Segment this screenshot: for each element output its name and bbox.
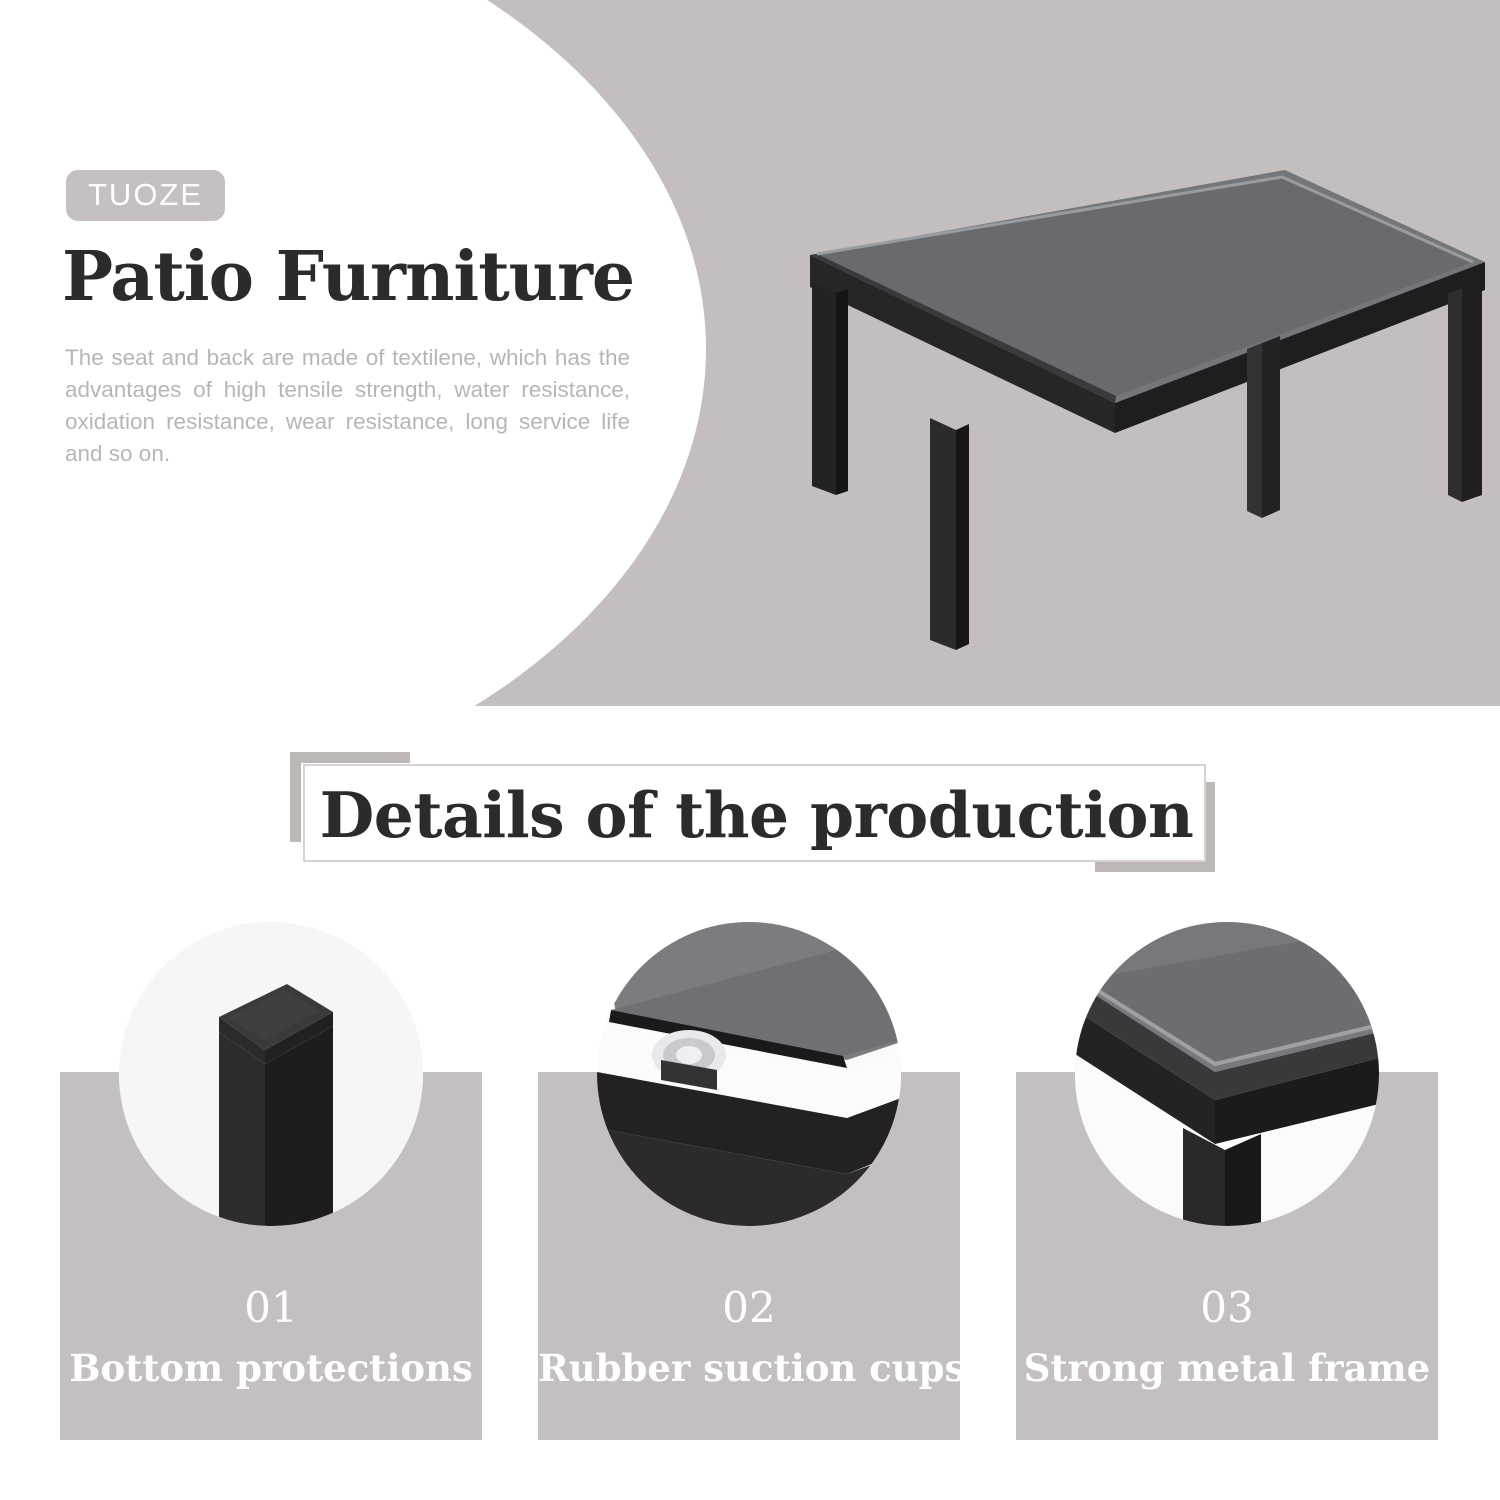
product-table-image: [770, 150, 1500, 660]
section-heading: Details of the production: [290, 752, 1215, 872]
detail-number-03: 03: [1016, 1287, 1438, 1329]
detail-number-02: 02: [538, 1287, 960, 1329]
product-marketing-page: TUOZE Patio Furniture The seat and back …: [0, 0, 1500, 1500]
hero-description: The seat and back are made of textilene,…: [65, 342, 630, 470]
detail-panel-03: 03 Strong metal frame: [1016, 1072, 1438, 1440]
detail-panel-02: 02 Rubber suction cups: [538, 1072, 960, 1440]
section-heading-text: Details of the production: [305, 766, 1208, 864]
detail-number-01: 01: [60, 1287, 482, 1329]
page-title: Patio Furniture: [62, 243, 634, 311]
detail-image-01: [119, 922, 423, 1226]
brand-badge: TUOZE: [66, 170, 225, 221]
detail-label-03: Strong metal frame: [1016, 1350, 1438, 1387]
detail-panel-01: 01 Bottom protections: [60, 1072, 482, 1440]
detail-label-02: Rubber suction cups: [538, 1350, 960, 1387]
heading-frame-box: Details of the production: [303, 764, 1206, 862]
detail-label-01: Bottom protections: [60, 1350, 482, 1387]
detail-image-03: [1075, 922, 1379, 1226]
detail-image-02: [597, 922, 901, 1226]
